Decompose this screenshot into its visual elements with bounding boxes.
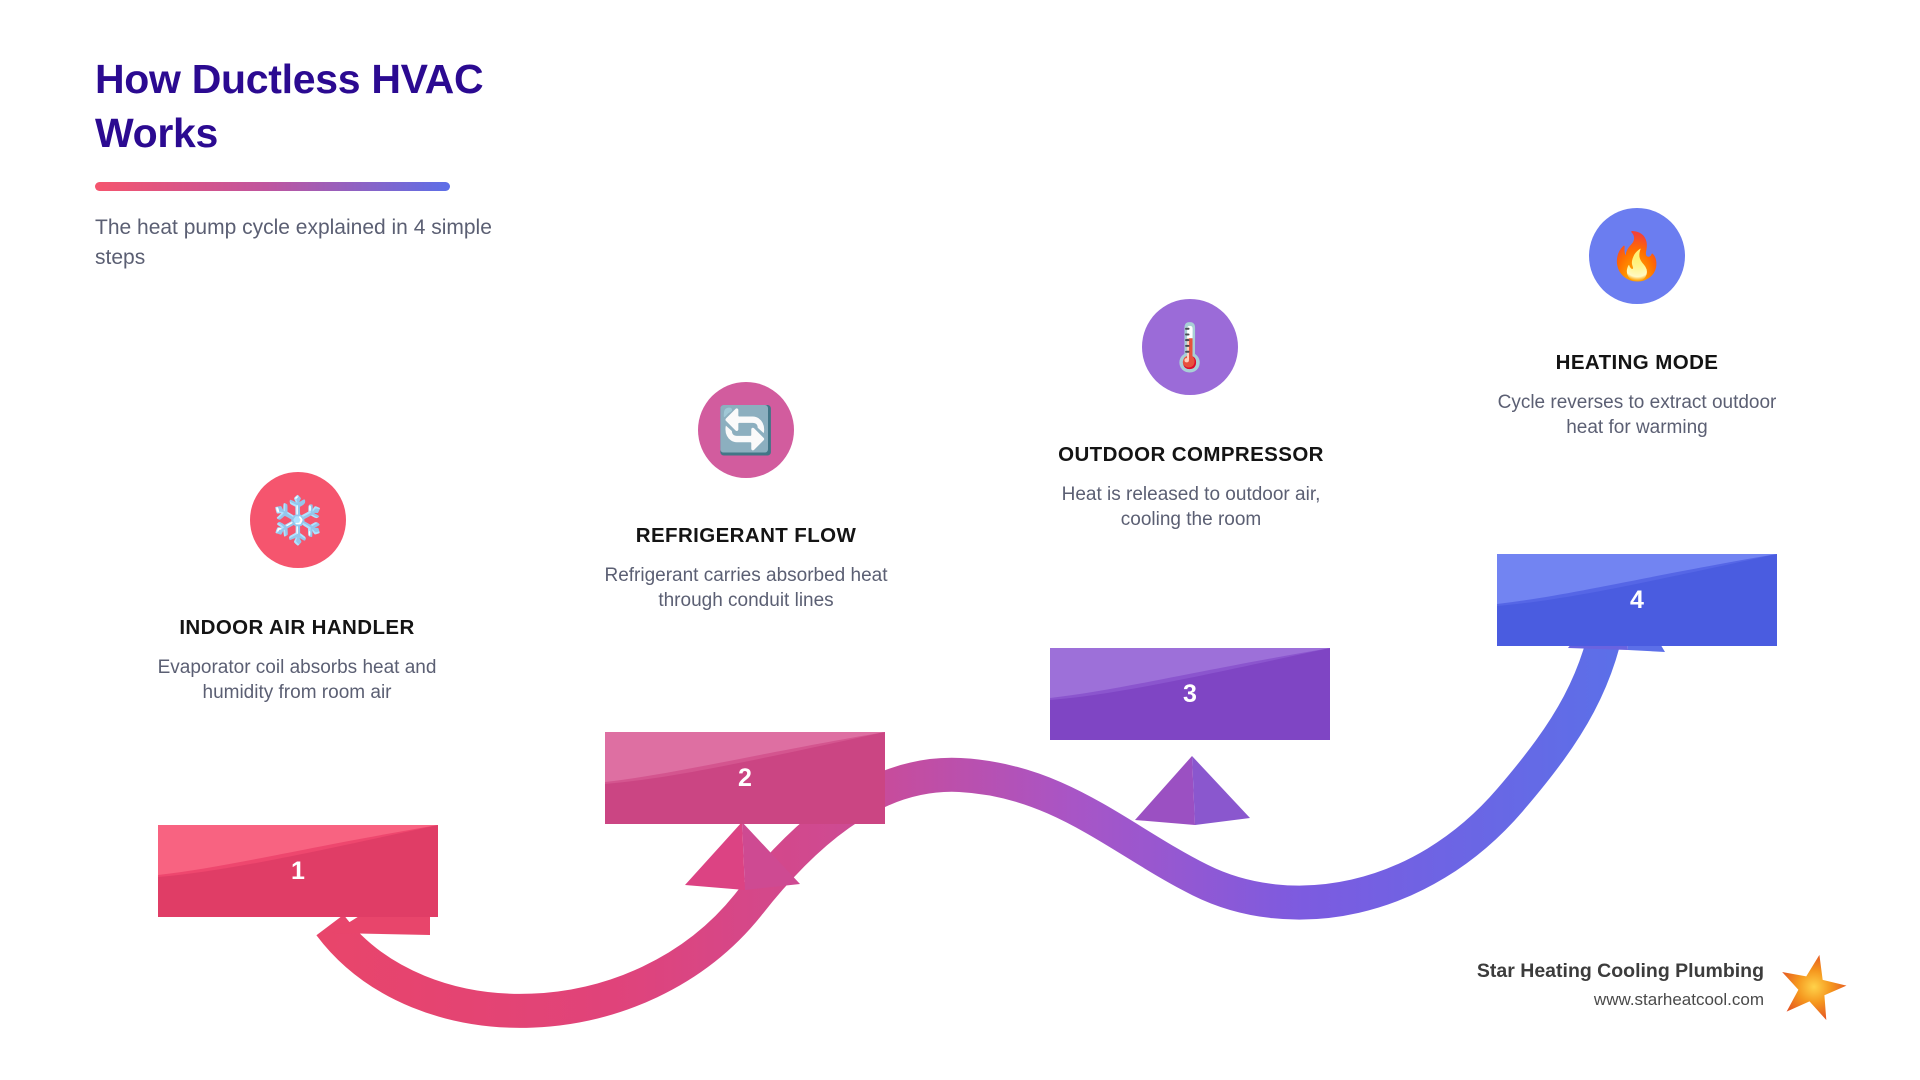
- star-icon: [1778, 950, 1848, 1020]
- brand-url[interactable]: www.starheatcool.com: [1477, 989, 1764, 1011]
- step-4-title: HEATING MODE: [1487, 350, 1787, 376]
- step-4-description: Cycle reverses to extract outdoor heat f…: [1487, 390, 1787, 442]
- step-3-icon-circle: 🌡️: [1142, 299, 1238, 395]
- thermometer-icon: 🌡️: [1161, 324, 1218, 370]
- refresh-cycle-icon: 🔄: [717, 407, 774, 453]
- step-3-title: OUTDOOR COMPRESSOR: [1041, 442, 1341, 468]
- fire-icon: 🔥: [1608, 233, 1665, 279]
- step-3-number: 3: [1050, 648, 1330, 740]
- step-3-description: Heat is released to outdoor air, cooling…: [1041, 482, 1341, 534]
- step-4-number-block: 4: [1497, 554, 1777, 646]
- step-2-text: REFRIGERANT FLOW Refrigerant carries abs…: [596, 523, 896, 614]
- header: How Ductless HVAC Works The heat pump cy…: [95, 52, 565, 273]
- brand-name: Star Heating Cooling Plumbing: [1477, 959, 1764, 984]
- step-1-text: INDOOR AIR HANDLER Evaporator coil absor…: [147, 615, 447, 706]
- step-2-title: REFRIGERANT FLOW: [596, 523, 896, 549]
- step-2-number: 2: [605, 732, 885, 824]
- page-title: How Ductless HVAC Works: [95, 52, 525, 160]
- step-4-text: HEATING MODE Cycle reverses to extract o…: [1487, 350, 1787, 441]
- infographic-canvas: How Ductless HVAC Works The heat pump cy…: [0, 0, 1920, 1080]
- step-1-icon-circle: ❄️: [250, 472, 346, 568]
- step-3-number-block: 3: [1050, 648, 1330, 740]
- title-divider: [95, 182, 450, 191]
- step-1-number: 1: [158, 825, 438, 917]
- step-1-description: Evaporator coil absorbs heat and humidit…: [147, 655, 447, 707]
- step-3-text: OUTDOOR COMPRESSOR Heat is released to o…: [1041, 442, 1341, 533]
- snowflake-icon: ❄️: [269, 497, 326, 543]
- page-subtitle: The heat pump cycle explained in 4 simpl…: [95, 213, 525, 273]
- footer-text: Star Heating Cooling Plumbing www.starhe…: [1477, 959, 1764, 1011]
- step-2-icon-circle: 🔄: [698, 382, 794, 478]
- step-2-description: Refrigerant carries absorbed heat throug…: [596, 563, 896, 615]
- step-1-number-block: 1: [158, 825, 438, 917]
- footer-branding: Star Heating Cooling Plumbing www.starhe…: [1477, 950, 1848, 1020]
- step-4-number: 4: [1497, 554, 1777, 646]
- step-4-icon-circle: 🔥: [1589, 208, 1685, 304]
- step-1-title: INDOOR AIR HANDLER: [147, 615, 447, 641]
- step-2-number-block: 2: [605, 732, 885, 824]
